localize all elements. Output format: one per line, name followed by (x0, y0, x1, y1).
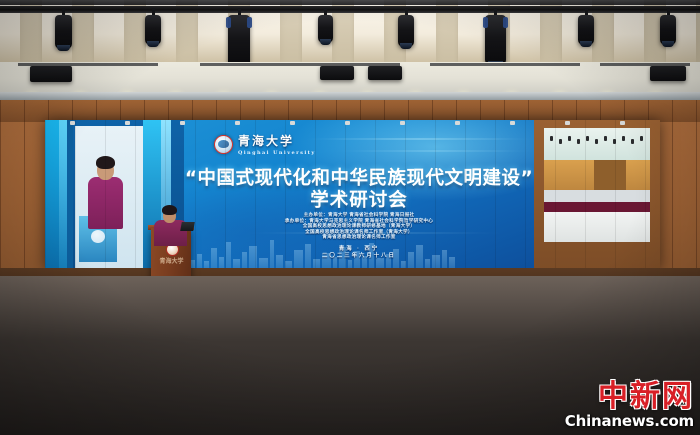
led-wall-mount (70, 121, 75, 125)
led-wall-mount (620, 121, 625, 125)
led-wall-mount (400, 121, 405, 125)
led-wall-mount (455, 121, 460, 125)
lighting-truss (0, 6, 700, 13)
led-wall-mount (290, 121, 295, 125)
led-wall-mount (510, 121, 515, 125)
wall-upper-band (0, 100, 700, 122)
led-wall-mount (565, 121, 570, 125)
lighting-truss-upper (0, 0, 700, 5)
watermark-cn: 中新网 (565, 382, 694, 412)
led-wall-mount (345, 121, 350, 125)
ceiling-speaker-icon (650, 66, 686, 81)
led-wall-mount (235, 121, 240, 125)
ceiling-speaker-icon (368, 66, 402, 80)
podium-laptop (180, 222, 195, 231)
led-wall-mount (125, 121, 130, 125)
wall-seam (24, 100, 25, 280)
soffit-rail (430, 63, 580, 66)
ceiling-speaker-icon (320, 66, 354, 80)
wall-seam (696, 100, 697, 280)
wall-seam (672, 100, 673, 280)
podium-university-text: 青海大学 (158, 258, 185, 265)
watermark-en: Chinanews.com (565, 413, 694, 429)
led-wall-mount (180, 121, 185, 125)
presenter-hair (162, 205, 177, 215)
led-panel-grid (45, 120, 660, 270)
watermark: 中新网 Chinanews.com (565, 382, 694, 429)
led-video-wall: 青海大学 Qinghai University “中国式现代化和中华民族现代文明… (45, 120, 660, 270)
ceiling-speaker-icon (30, 66, 72, 82)
wall-seam (0, 100, 1, 280)
conference-hall-photo: 青海大学 Qinghai University “中国式现代化和中华民族现代文明… (0, 0, 700, 435)
